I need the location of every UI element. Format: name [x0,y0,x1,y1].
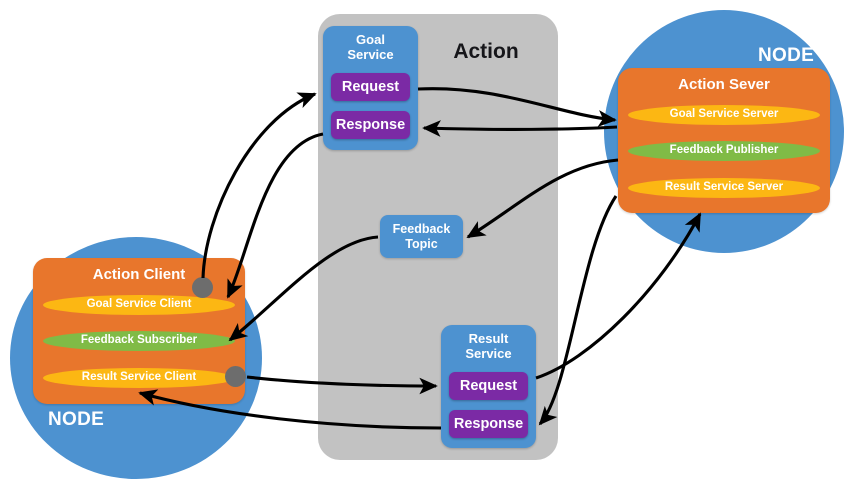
diagram-canvas: Action NODE Action Client Goal Service C… [0,0,854,480]
goal-service-response-chip[interactable]: Response [331,111,410,139]
result-service-response-chip[interactable]: Response [449,410,528,438]
action-server-box: Action Sever Goal Service Server Feedbac… [618,68,830,213]
action-client-box: Action Client Goal Service Client Feedba… [33,258,245,404]
feedback-topic-line2: Topic [405,237,437,251]
pill-feedback-subscriber[interactable]: Feedback Subscriber [43,331,235,351]
pill-result-service-server[interactable]: Result Service Server [628,178,820,198]
node-right-label: NODE [758,45,814,67]
goal-service-title: Goal Service [323,32,418,62]
feedback-topic-label: Feedback Topic [393,222,451,252]
pill-goal-service-client[interactable]: Goal Service Client [43,295,235,315]
result-service-title-line1: Result [469,331,509,346]
goal-service-title-line1: Goal [356,32,385,47]
goal-service-request-chip[interactable]: Request [331,73,410,101]
feedback-topic-line1: Feedback [393,222,451,236]
node-left-label: NODE [48,409,104,431]
action-client-title: Action Client [33,266,245,283]
arrow-goal-client-to-request [203,94,315,278]
result-service-box: Result Service Request Response [441,325,536,448]
goal-service-title-line2: Service [347,47,393,62]
pill-feedback-publisher[interactable]: Feedback Publisher [628,141,820,161]
pill-result-service-client[interactable]: Result Service Client [43,368,235,388]
result-service-title: Result Service [441,331,536,361]
connector-dot-goal-service-client [192,277,213,298]
feedback-topic-box[interactable]: Feedback Topic [380,215,463,258]
goal-service-box: Goal Service Request Response [323,26,418,150]
result-service-title-line2: Service [465,346,511,361]
action-panel-title: Action [443,40,529,64]
connector-dot-result-service-client [225,366,246,387]
action-server-title: Action Sever [618,76,830,93]
result-service-request-chip[interactable]: Request [449,372,528,400]
pill-goal-service-server[interactable]: Goal Service Server [628,105,820,125]
